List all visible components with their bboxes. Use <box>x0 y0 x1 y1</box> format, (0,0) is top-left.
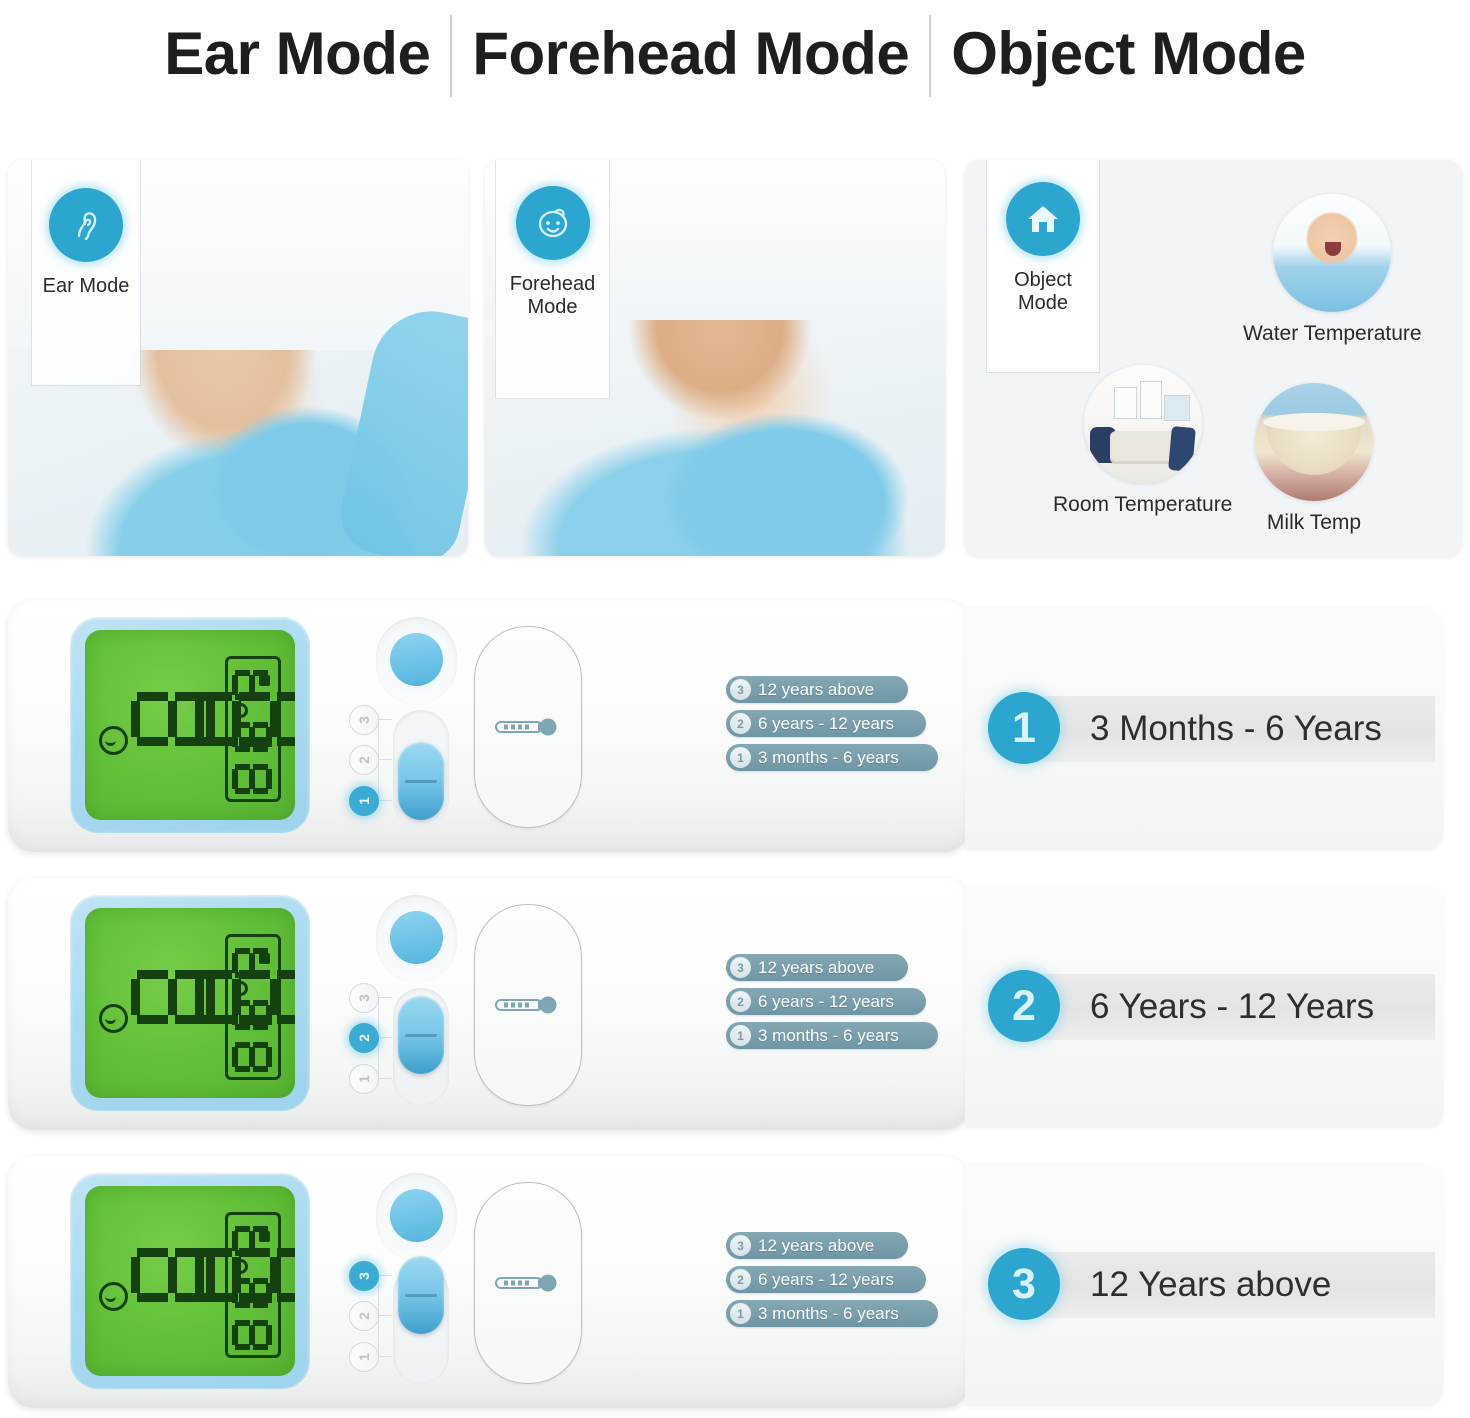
pill-label: 12 years above <box>758 958 874 978</box>
baby-face-icon <box>516 186 590 260</box>
lcd-bezel <box>70 617 310 833</box>
switch-guide-line <box>378 1315 392 1316</box>
row-info-strip: 2 6 Years - 12 Years <box>1015 974 1435 1040</box>
lcd-secondary-box <box>225 1212 281 1358</box>
switch-position-2[interactable]: 2 <box>349 745 379 775</box>
mode-switch-knob[interactable] <box>398 742 444 820</box>
wall-frame-shape <box>1140 381 1162 419</box>
switch-guide-line <box>378 719 392 720</box>
lcd-degree-symbol <box>233 703 248 718</box>
row-info-strip: 1 3 Months - 6 Years <box>1015 696 1435 762</box>
lcd-small-digit <box>232 1226 272 1256</box>
face-indicator-icon <box>99 726 128 755</box>
row-number-badge: 1 <box>988 692 1060 764</box>
thumb-water-temperature[interactable]: Water Temperature <box>1243 194 1422 346</box>
row-age-range-text: 12 Years above <box>1090 1265 1331 1305</box>
pill-number-icon: 3 <box>730 1235 751 1256</box>
thermometer-icon <box>494 716 562 738</box>
pill-label: 3 months - 6 years <box>758 748 899 768</box>
row-info-band: 3 12 Years above <box>965 1164 1443 1406</box>
pill-label: 3 months - 6 years <box>758 1304 899 1324</box>
row-info-strip: 3 12 Years above <box>1015 1252 1435 1318</box>
lcd-bezel <box>70 1173 310 1389</box>
face-indicator-icon <box>99 1004 128 1033</box>
header-title-forehead: Forehead Mode <box>452 9 929 99</box>
ear-icon <box>49 188 123 262</box>
pill-number-icon: 1 <box>730 1025 751 1046</box>
age-pill-list: 3 12 years above 2 6 years - 12 years 1 … <box>726 676 946 778</box>
lcd-small-digit <box>232 1278 272 1308</box>
switch-guide-line <box>378 1275 392 1276</box>
switch-position-2[interactable]: 2 <box>349 1023 379 1053</box>
age-pill[interactable]: 1 3 months - 6 years <box>726 744 938 771</box>
forehead-mode-badge-label: Forehead Mode <box>510 273 596 319</box>
house-icon <box>1006 182 1080 256</box>
switch-guide-line <box>378 1356 392 1357</box>
header-title-object: Object Mode <box>931 9 1326 99</box>
header: Ear Mode Forehead Mode Object Mode <box>0 0 1470 108</box>
baby-mouth-shape <box>1325 242 1341 256</box>
age-pill[interactable]: 3 12 years above <box>726 676 908 703</box>
device-row-1: 3 2 1 3 12 years above 2 6 years - 12 ye… <box>0 590 1470 862</box>
thermometer-icon <box>494 1272 562 1294</box>
thermometer-device[interactable]: 3 2 1 3 12 years above 2 6 years - 12 ye… <box>8 878 970 1130</box>
pill-number-icon: 3 <box>730 679 751 700</box>
switch-position-3[interactable]: 3 <box>349 1261 379 1291</box>
thumb-label-room: Room Temperature <box>1053 493 1232 517</box>
switch-position-3[interactable]: 3 <box>349 705 379 735</box>
row-info-band: 1 3 Months - 6 Years <box>965 608 1443 850</box>
lcd-small-digit <box>232 722 272 752</box>
device-row-3: 3 2 1 3 12 years above 2 6 years - 12 ye… <box>0 1146 1470 1418</box>
lcd-small-digit <box>232 1042 272 1072</box>
pill-label: 3 months - 6 years <box>758 1026 899 1046</box>
age-pill[interactable]: 3 12 years above <box>726 954 908 981</box>
switch-position-2[interactable]: 2 <box>349 1301 379 1331</box>
pill-number-icon: 1 <box>730 1303 751 1324</box>
forehead-mode-badge: Forehead Mode <box>496 160 609 398</box>
switch-position-1[interactable]: 1 <box>349 1064 379 1094</box>
scan-button[interactable] <box>390 911 443 964</box>
thermometer-icon <box>494 994 562 1016</box>
thumb-room-temperature[interactable]: Room Temperature <box>1053 365 1232 517</box>
bowl-rim-shape <box>1263 413 1365 431</box>
lcd-small-digit <box>232 764 272 794</box>
pill-label: 12 years above <box>758 680 874 700</box>
age-pill-list: 3 12 years above 2 6 years - 12 years 1 … <box>726 1232 946 1334</box>
lcd-degree-symbol <box>233 981 248 996</box>
sensor-panel <box>474 904 582 1106</box>
lcd-small-digit <box>232 670 272 700</box>
thumb-milk-temp[interactable]: Milk Temp <box>1255 383 1373 535</box>
pill-label: 6 years - 12 years <box>758 992 894 1012</box>
row-number-badge: 2 <box>988 970 1060 1042</box>
switch-position-3[interactable]: 3 <box>349 983 379 1013</box>
ear-mode-badge-label: Ear Mode <box>43 275 130 298</box>
pill-label: 6 years - 12 years <box>758 714 894 734</box>
age-pill[interactable]: 2 6 years - 12 years <box>726 1266 926 1293</box>
thermometer-device[interactable]: 3 2 1 3 12 years above 2 6 years - 12 ye… <box>8 600 970 852</box>
switch-position-1[interactable]: 1 <box>349 1342 379 1372</box>
baby-in-bath-photo <box>1273 194 1391 312</box>
scan-button[interactable] <box>390 633 443 686</box>
age-pill[interactable]: 1 3 months - 6 years <box>726 1300 938 1327</box>
lcd-small-digit <box>232 1320 272 1350</box>
header-title-ear: Ear Mode <box>144 9 450 99</box>
switch-guide-line <box>378 759 392 760</box>
row-info-band: 2 6 Years - 12 Years <box>965 886 1443 1128</box>
scan-button[interactable] <box>390 1189 443 1242</box>
ear-mode-badge: Ear Mode <box>32 160 140 385</box>
pill-label: 12 years above <box>758 1236 874 1256</box>
switch-guide-line <box>378 1037 392 1038</box>
switch-guide-line <box>378 997 392 998</box>
switch-position-1[interactable]: 1 <box>349 786 379 816</box>
pill-number-icon: 1 <box>730 747 751 768</box>
lcd-secondary-box <box>225 656 281 802</box>
face-indicator-icon <box>99 1282 128 1311</box>
mode-switch-knob[interactable] <box>398 996 444 1074</box>
lcd-degree-symbol <box>233 1259 248 1274</box>
panel-forehead-mode[interactable]: Forehead Mode <box>485 160 945 556</box>
milk-bowl-photo <box>1255 383 1373 501</box>
thermometer-device[interactable]: 3 2 1 3 12 years above 2 6 years - 12 ye… <box>8 1156 970 1408</box>
age-pill-list: 3 12 years above 2 6 years - 12 years 1 … <box>726 954 946 1056</box>
lcd-secondary-box <box>225 934 281 1080</box>
pill-number-icon: 2 <box>730 1269 751 1290</box>
device-row-2: 3 2 1 3 12 years above 2 6 years - 12 ye… <box>0 868 1470 1140</box>
switch-guide-line <box>378 800 392 801</box>
object-mode-badge-label: Object Mode <box>987 269 1099 315</box>
lcd-small-digit <box>232 948 272 978</box>
thumb-label-milk: Milk Temp <box>1267 511 1361 535</box>
pill-number-icon: 3 <box>730 957 751 978</box>
lcd-bezel <box>70 895 310 1111</box>
pill-label: 6 years - 12 years <box>758 1270 894 1290</box>
switch-guide-line <box>378 1078 392 1079</box>
row-age-range-text: 6 Years - 12 Years <box>1090 987 1374 1027</box>
age-pill[interactable]: 2 6 years - 12 years <box>726 710 926 737</box>
mode-panels: Ear Mode Forehead Mode <box>0 160 1470 565</box>
thumb-label-water: Water Temperature <box>1243 322 1422 346</box>
pill-number-icon: 2 <box>730 713 751 734</box>
row-age-range-text: 3 Months - 6 Years <box>1090 709 1382 749</box>
age-pill[interactable]: 2 6 years - 12 years <box>726 988 926 1015</box>
wall-frame-shape <box>1114 387 1137 419</box>
throw-blanket-shape <box>1168 426 1196 472</box>
lcd-screen <box>85 908 295 1098</box>
lcd-screen <box>85 630 295 820</box>
object-mode-badge: Object Mode <box>987 160 1099 372</box>
lcd-screen <box>85 1186 295 1376</box>
pill-number-icon: 2 <box>730 991 751 1012</box>
sensor-panel <box>474 626 582 828</box>
mode-switch-knob[interactable] <box>398 1256 444 1334</box>
age-pill[interactable]: 1 3 months - 6 years <box>726 1022 938 1049</box>
panel-object-mode[interactable]: Object Mode Water Temperature Room Tempe… <box>965 160 1462 556</box>
wall-frame-shape <box>1164 395 1190 421</box>
sensor-panel <box>474 1182 582 1384</box>
lcd-small-digit <box>232 1000 272 1030</box>
forehead-label-line2: Mode <box>527 296 577 318</box>
forehead-label-line1: Forehead <box>510 273 596 295</box>
age-pill[interactable]: 3 12 years above <box>726 1232 908 1259</box>
panel-ear-mode[interactable]: Ear Mode <box>8 160 468 556</box>
row-number-badge: 3 <box>988 1248 1060 1320</box>
living-room-photo <box>1084 365 1202 483</box>
